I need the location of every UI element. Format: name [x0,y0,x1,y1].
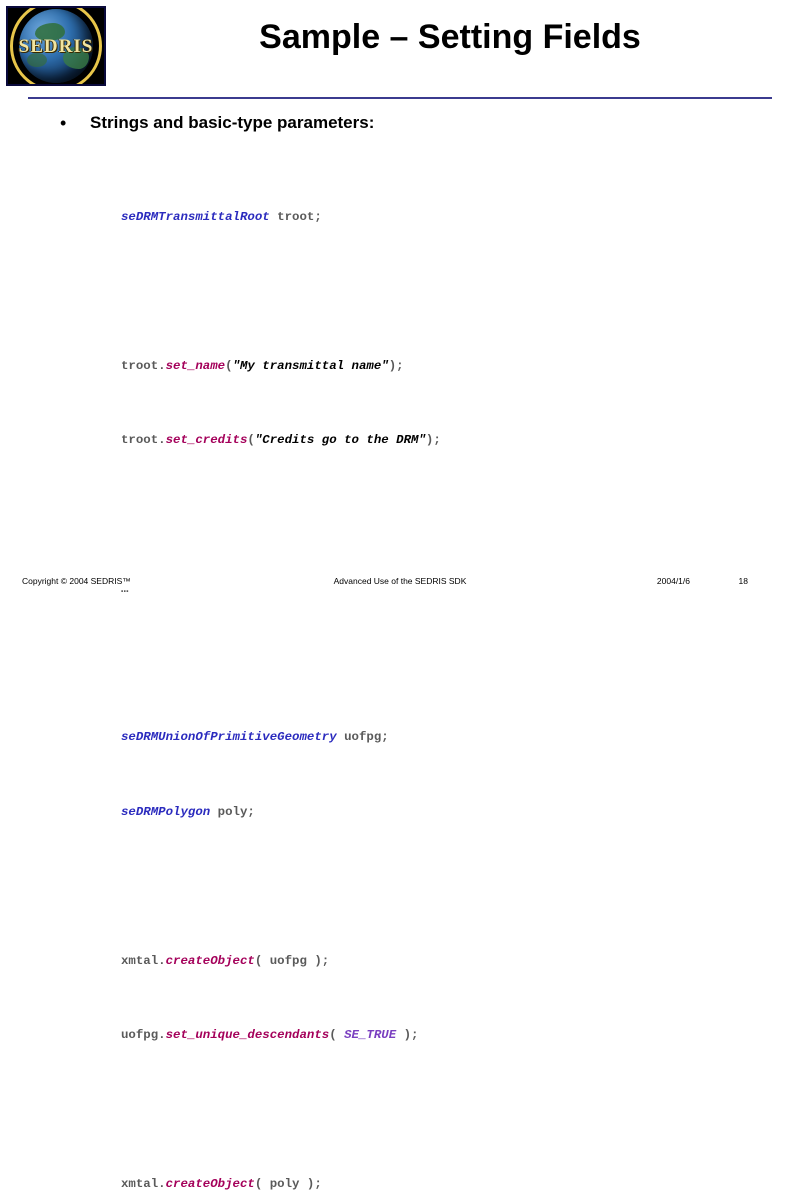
code-token-string: "Credits go to the DRM" [255,433,426,447]
page-title: Sample – Setting Fields [110,18,790,57]
code-token-plain: ( poly ); [255,1177,322,1191]
code-token-type: seDRMUnionOfPrimitiveGeometry [121,730,337,744]
code-blank-line [121,1100,781,1119]
code-token-object: troot. [121,359,166,373]
code-blank-line [121,654,781,673]
slide-footer: Copyright © 2004 SEDRIS™ Advanced Use of… [0,576,800,590]
code-line: seDRMPolygon poly; [121,803,781,822]
code-token-method: set_credits [166,433,248,447]
code-line: troot.set_name("My transmittal name"); [121,357,781,376]
bullet-label: Strings and basic-type parameters: [90,112,374,134]
code-line: xmtal.createObject( uofpg ); [121,952,781,971]
title-divider [28,97,772,99]
code-token-method: set_name [166,359,226,373]
code-token-method: createObject [166,954,255,968]
code-token-method: set_unique_descendants [166,1028,330,1042]
code-blank-line [121,505,781,524]
code-line: uofpg.set_unique_descendants( SE_TRUE ); [121,1026,781,1045]
code-block: seDRMTransmittalRoot troot; troot.set_na… [121,152,781,1200]
code-line: seDRMTransmittalRoot troot; [121,208,781,227]
code-token-plain: ( uofpg ); [255,954,329,968]
code-token-punct: ( [329,1028,344,1042]
code-line: seDRMUnionOfPrimitiveGeometry uofpg; [121,728,781,747]
code-token-punct: ); [396,1028,418,1042]
code-line: xmtal.createObject( poly ); [121,1175,781,1194]
code-token-type: seDRMTransmittalRoot [121,210,270,224]
code-token-punct: ); [389,359,404,373]
code-blank-line [121,877,781,896]
code-line: troot.set_credits("Credits go to the DRM… [121,431,781,450]
code-token-string: "My transmittal name" [233,359,389,373]
bullet-item: • Strings and basic-type parameters: [60,112,760,134]
code-token-plain: poly; [210,805,255,819]
code-token-type: seDRMPolygon [121,805,210,819]
code-token-punct: ( [247,433,254,447]
code-token-object: troot. [121,433,166,447]
code-token-punct: ); [426,433,441,447]
code-token-plain: troot; [270,210,322,224]
code-token-enum: SE_TRUE [344,1028,396,1042]
code-token-punct: ( [225,359,232,373]
code-token-object: uofpg. [121,1028,166,1042]
logo-wordmark: SEDRIS [8,36,104,58]
sedris-logo: SEDRIS [6,6,106,86]
code-token-object: xmtal. [121,954,166,968]
code-blank-line [121,282,781,301]
bullet-marker-icon: • [60,112,90,134]
code-token-plain: uofpg; [337,730,389,744]
footer-page-number: 18 [739,576,748,586]
footer-date: 2004/1/6 [657,576,690,586]
code-token-method: createObject [166,1177,255,1191]
code-token-object: xmtal. [121,1177,166,1191]
